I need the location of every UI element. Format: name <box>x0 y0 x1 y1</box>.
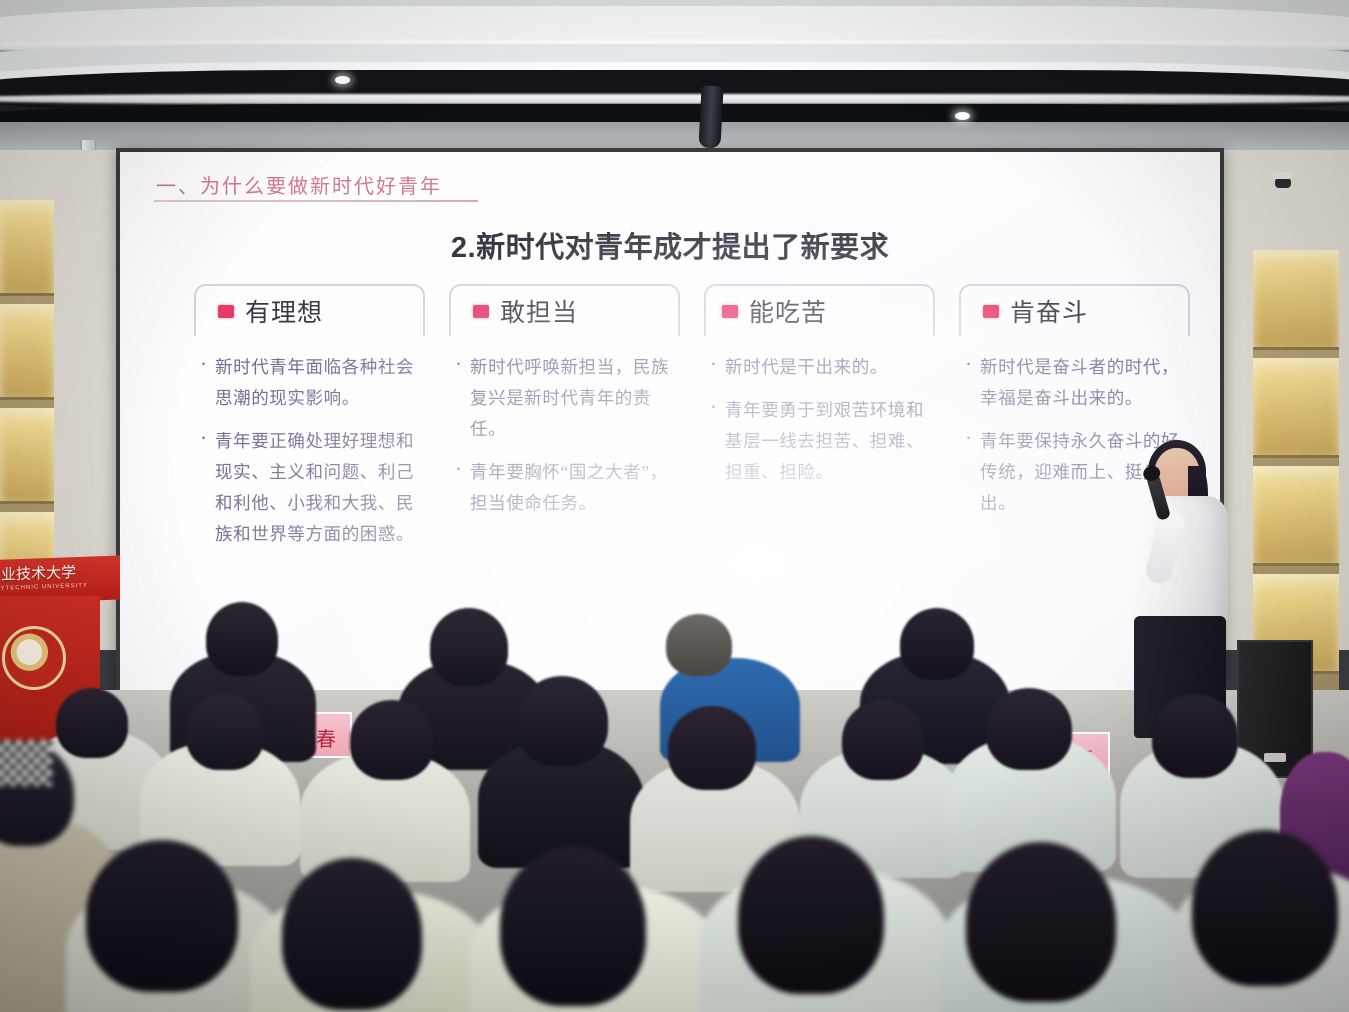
slide-card-body: 新时代呼唤新担当，民族复兴是新时代青年的责任。 青年要胸怀“国之大者”，担当使命… <box>449 352 680 519</box>
slide-card-title: 有理想 <box>245 293 323 329</box>
hanging-drape <box>698 85 723 148</box>
downlight-icon <box>335 76 350 84</box>
slide-bullet: 新时代青年面临各种社会思潮的现实影响。 <box>198 352 425 414</box>
slide-card-header: 敢担当 <box>449 284 680 336</box>
slide-kicker-rule <box>154 200 478 202</box>
slide-card-title: 敢担当 <box>500 293 578 329</box>
slide-card: 能吃苦 新时代是干出来的。 青年要勇于到艰苦环境和基层一线去担苦、担难、担重、担… <box>692 284 947 562</box>
slide-card-title: 肯奋斗 <box>1010 293 1088 329</box>
ceiling-light-strip <box>0 94 1349 104</box>
slide-card-header: 肯奋斗 <box>959 284 1190 336</box>
audience-head <box>666 614 732 676</box>
square-bullet-icon <box>983 305 999 318</box>
square-bullet-icon <box>473 305 489 318</box>
slide-card: 敢担当 新时代呼唤新担当，民族复兴是新时代青年的责任。 青年要胸怀“国之大者”，… <box>437 284 692 562</box>
audience-head <box>966 842 1116 1002</box>
audience-head <box>500 846 646 1006</box>
audience-head <box>56 688 128 758</box>
security-camera-icon <box>1275 178 1291 188</box>
slide-card-header: 有理想 <box>194 284 425 336</box>
slide-card: 有理想 新时代青年面临各种社会思潮的现实影响。 青年要正确处理好理想和现实、主义… <box>182 284 437 562</box>
audience-head <box>86 840 238 992</box>
slide-card-body: 新时代是干出来的。 青年要勇于到艰苦环境和基层一线去担苦、担难、担重、担险。 <box>704 352 935 488</box>
slide-title: 2.新时代对青年成才提出了新要求 <box>120 224 1220 266</box>
audience-head <box>430 608 508 686</box>
shelf-column-right <box>1253 250 1339 690</box>
slide-bullet: 青年要正确处理好理想和现实、主义和问题、利己和利他、小我和大我、民族和世界等方面… <box>198 426 425 550</box>
audience-head <box>738 836 884 994</box>
audience-head <box>842 700 924 780</box>
slide-card-body: 新时代青年面临各种社会思潮的现实影响。 青年要正确处理好理想和现实、主义和问题、… <box>194 352 425 550</box>
square-bullet-icon <box>218 305 234 318</box>
square-bullet-icon <box>722 305 738 318</box>
university-seal-icon <box>2 626 66 690</box>
audience-head <box>986 688 1072 770</box>
slide-card-row: 有理想 新时代青年面临各种社会思潮的现实影响。 青年要正确处理好理想和现实、主义… <box>182 284 1202 562</box>
slide-card-header: 能吃苦 <box>704 284 935 336</box>
slide-bullet: 青年要胸怀“国之大者”，担当使命任务。 <box>453 457 680 519</box>
audience-head <box>186 694 264 770</box>
slide-bullet: 新时代呼唤新担当，民族复兴是新时代青年的责任。 <box>453 352 680 445</box>
downlight-icon <box>955 112 970 120</box>
audience-head <box>1192 830 1338 986</box>
audience-head <box>900 608 974 680</box>
audience-head <box>206 602 278 676</box>
audience-head <box>282 858 422 1010</box>
slide-bullet: 新时代是干出来的。 <box>708 352 935 383</box>
audience-head <box>668 706 756 790</box>
audience-head <box>1152 694 1238 778</box>
houndstooth-scarf <box>0 740 52 786</box>
audience-head <box>516 676 608 766</box>
slide-card-title: 能吃苦 <box>749 293 827 329</box>
slide-bullet: 青年要勇于到艰苦环境和基层一线去担苦、担难、担重、担险。 <box>708 395 935 488</box>
audience-head <box>350 700 434 780</box>
ceiling <box>0 0 1349 160</box>
lecture-hall-photo: 一、为什么要做新时代好青年 2.新时代对青年成才提出了新要求 有理想 新时代青年… <box>0 0 1349 1012</box>
slide-section-kicker: 一、为什么要做新时代好青年 <box>156 170 442 199</box>
